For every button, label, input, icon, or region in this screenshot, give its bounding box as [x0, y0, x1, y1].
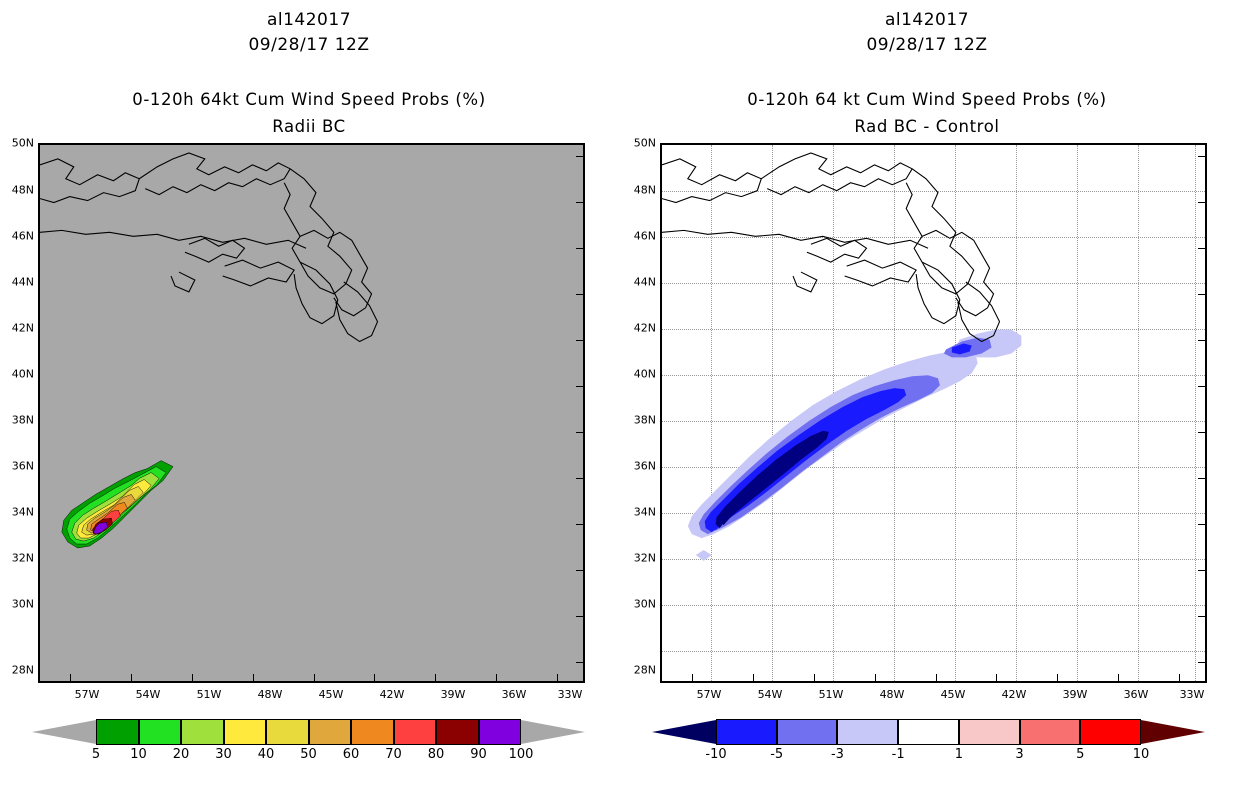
y-axis-tick-32N [1198, 570, 1205, 571]
left-chart-title: 0-120h 64kt Cum Wind Speed Probs (%) [0, 90, 618, 109]
colorbar-band-9 [479, 719, 522, 745]
colorbar-tick--3: -3 [815, 747, 859, 762]
y-axis-tick-36N [1198, 478, 1205, 479]
ytick-42N: 42N [0, 322, 34, 335]
y-axis-tick-30N [576, 616, 583, 617]
colorbar-band-8 [436, 719, 479, 745]
colorbar-band-2 [181, 719, 224, 745]
y-axis-tick-44N [576, 294, 583, 295]
xtick-51W: 51W [189, 688, 229, 701]
colorbar-tick-80: 80 [414, 747, 458, 762]
ytick-32N: 32N [622, 552, 656, 565]
left-probability-field [40, 145, 583, 681]
xtick-57W: 57W [67, 688, 107, 701]
x-axis-tick-45W [314, 674, 315, 681]
ytick-34N: 34N [0, 506, 34, 519]
left-datetime: 09/28/17 12Z [0, 35, 618, 55]
colorbar-tick-70: 70 [372, 747, 416, 762]
colorbar-tick-1: 1 [937, 747, 981, 762]
colorbar-tick-20: 20 [159, 747, 203, 762]
colorbar-band-3 [898, 719, 959, 745]
colorbar-band-5 [309, 719, 352, 745]
ytick-36N: 36N [622, 460, 656, 473]
y-axis-tick-28N [576, 662, 583, 663]
y-axis-tick-32N [576, 570, 583, 571]
x-axis-tick-39W [1057, 674, 1058, 681]
xtick-45W: 45W [311, 688, 351, 701]
x-axis-tick-36W [1118, 674, 1119, 681]
left-colorbar[interactable]: 5102030405060708090100 [96, 719, 521, 745]
x-axis-tick-48W [253, 674, 254, 681]
ytick-30N: 30N [622, 598, 656, 611]
y-axis-tick-48N [1198, 202, 1205, 203]
xtick-42W: 42W [372, 688, 412, 701]
xtick-39W: 39W [433, 688, 473, 701]
ytick-32N: 32N [0, 552, 34, 565]
xtick-57W: 57W [689, 688, 729, 701]
colorbar-tick--5: -5 [755, 747, 799, 762]
colorbar-tick-100: 100 [499, 747, 543, 762]
colorbar-tick-50: 50 [287, 747, 331, 762]
colorbar-tick--1: -1 [876, 747, 920, 762]
y-axis-tick-38N [1198, 432, 1205, 433]
x-axis-tick-33W [1179, 674, 1180, 681]
xtick-33W: 33W [550, 688, 590, 701]
x-axis-tick-45W [936, 674, 937, 681]
ytick-48N: 48N [0, 184, 34, 197]
right-panel: al142017 09/28/17 12Z 0-120h 64 kt Cum W… [618, 0, 1236, 800]
y-axis-tick-46N [1198, 248, 1205, 249]
right-chart-title: 0-120h 64 kt Cum Wind Speed Probs (%) [618, 90, 1236, 109]
y-axis-tick-38N [576, 432, 583, 433]
x-axis-tick-42W [996, 674, 997, 681]
y-axis-tick-34N [1198, 524, 1205, 525]
right-storm-id: al142017 [618, 10, 1236, 30]
y-axis-tick-42N [576, 340, 583, 341]
y-axis-tick-40N [576, 386, 583, 387]
colorbar-low-cap [32, 719, 96, 745]
xtick-48W: 48W [872, 688, 912, 701]
x-axis-tick-42W [374, 674, 375, 681]
colorbar-band-5 [1020, 719, 1081, 745]
x-axis-tick-51W [192, 674, 193, 681]
y-axis-tick-48N [576, 202, 583, 203]
xtick-33W: 33W [1172, 688, 1212, 701]
y-axis-tick-42N [1198, 340, 1205, 341]
left-panel: al142017 09/28/17 12Z 0-120h 64kt Cum Wi… [0, 0, 618, 800]
y-axis-tick-50N [576, 156, 583, 157]
y-axis-tick-36N [576, 478, 583, 479]
xtick-54W: 54W [128, 688, 168, 701]
ytick-30N: 30N [0, 598, 34, 611]
colorbar-high-cap [521, 719, 585, 745]
ytick-34N: 34N [622, 506, 656, 519]
ytick-48N: 48N [622, 184, 656, 197]
x-axis-tick-54W [131, 674, 132, 681]
colorbar-band-4 [959, 719, 1020, 745]
x-axis-tick-54W [753, 674, 754, 681]
x-axis-tick-57W [692, 674, 693, 681]
ytick-38N: 38N [0, 414, 34, 427]
right-coastline-map [662, 145, 1205, 681]
colorbar-tick-40: 40 [244, 747, 288, 762]
ytick-50N: 50N [0, 137, 34, 150]
xtick-45W: 45W [933, 688, 973, 701]
ytick-46N: 46N [0, 230, 34, 243]
ytick-36N: 36N [0, 460, 34, 473]
x-axis-tick-39W [435, 674, 436, 681]
xtick-54W: 54W [750, 688, 790, 701]
colorbar-tick-30: 30 [202, 747, 246, 762]
left-map-plot[interactable] [38, 143, 585, 683]
ytick-44N: 44N [0, 276, 34, 289]
ytick-44N: 44N [622, 276, 656, 289]
y-axis-tick-40N [1198, 386, 1205, 387]
colorbar-tick-5: 5 [1058, 747, 1102, 762]
ytick-40N: 40N [0, 368, 34, 381]
colorbar-tick-10: 10 [1119, 747, 1163, 762]
ytick-38N: 38N [622, 414, 656, 427]
right-map-plot[interactable] [660, 143, 1207, 683]
y-axis-tick-34N [576, 524, 583, 525]
colorbar-high-cap [1141, 719, 1205, 745]
colorbar-tick--10: -10 [694, 747, 738, 762]
colorbar-tick-90: 90 [457, 747, 501, 762]
y-axis-tick-46N [576, 248, 583, 249]
ytick-50N: 50N [622, 137, 656, 150]
x-axis-tick-36W [496, 674, 497, 681]
x-axis-tick-57W [70, 674, 71, 681]
xtick-39W: 39W [1055, 688, 1095, 701]
right-datetime: 09/28/17 12Z [618, 35, 1236, 55]
colorbar-band-6 [1080, 719, 1141, 745]
colorbar-band-4 [266, 719, 309, 745]
ytick-28N: 28N [622, 664, 656, 677]
colorbar-band-1 [777, 719, 838, 745]
colorbar-band-2 [837, 719, 898, 745]
x-axis-tick-51W [814, 674, 815, 681]
colorbar-tick-3: 3 [998, 747, 1042, 762]
colorbar-band-3 [224, 719, 267, 745]
ytick-42N: 42N [622, 322, 656, 335]
ytick-40N: 40N [622, 368, 656, 381]
left-chart-subtitle: Radii BC [0, 117, 618, 136]
colorbar-band-7 [394, 719, 437, 745]
colorbar-tick-10: 10 [117, 747, 161, 762]
colorbar-band-0 [96, 719, 139, 745]
right-colorbar[interactable]: -10-5-3-113510 [716, 719, 1141, 745]
x-axis-tick-48W [875, 674, 876, 681]
colorbar-tick-60: 60 [329, 747, 373, 762]
xtick-36W: 36W [494, 688, 534, 701]
x-axis-tick-33W [557, 674, 558, 681]
xtick-36W: 36W [1116, 688, 1156, 701]
y-axis-tick-30N [1198, 616, 1205, 617]
colorbar-band-0 [716, 719, 777, 745]
ytick-28N: 28N [0, 664, 34, 677]
y-axis-tick-44N [1198, 294, 1205, 295]
colorbar-tick-5: 5 [74, 747, 118, 762]
xtick-42W: 42W [994, 688, 1034, 701]
colorbar-low-cap [652, 719, 716, 745]
xtick-51W: 51W [811, 688, 851, 701]
left-storm-id: al142017 [0, 10, 618, 30]
right-chart-subtitle: Rad BC - Control [618, 117, 1236, 136]
y-axis-tick-50N [1198, 156, 1205, 157]
y-axis-tick-28N [1198, 662, 1205, 663]
ytick-46N: 46N [622, 230, 656, 243]
colorbar-band-1 [139, 719, 182, 745]
colorbar-band-6 [351, 719, 394, 745]
xtick-48W: 48W [250, 688, 290, 701]
